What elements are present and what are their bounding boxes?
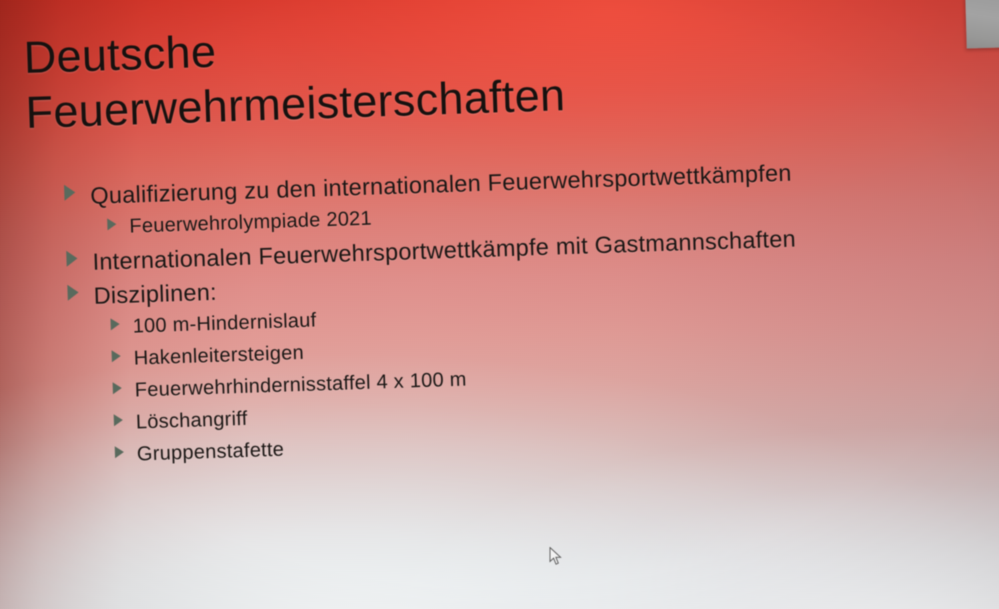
list-item-label: Disziplinen: <box>93 279 217 310</box>
triangle-right-icon <box>112 350 121 362</box>
triangle-right-icon <box>113 382 122 394</box>
list-item-label: Hakenleitersteigen <box>133 342 304 371</box>
slide-content: Deutsche Feuerwehrmeisterschaften Qualif… <box>0 0 999 609</box>
triangle-right-icon <box>67 284 79 300</box>
page-title: Deutsche Feuerwehrmeisterschaften <box>23 6 786 141</box>
triangle-right-icon <box>107 218 116 230</box>
list-item-label: Feuerwehrolympiade 2021 <box>129 208 372 239</box>
list-item-label: Gruppenstafette <box>137 439 285 467</box>
triangle-right-icon <box>66 250 78 266</box>
slide-photo-stage: Deutsche Feuerwehrmeisterschaften Qualif… <box>0 0 999 609</box>
triangle-right-icon <box>64 184 76 200</box>
list-item-label: 100 m-Hindernislauf <box>132 310 316 339</box>
list-item-label: Feuerwehrhindernisstaffel 4 x 100 m <box>134 369 466 403</box>
triangle-right-icon <box>114 414 123 426</box>
bullet-list: Qualifizierung zu den internationalen Fe… <box>64 154 973 478</box>
triangle-right-icon <box>110 318 119 330</box>
triangle-right-icon <box>115 446 124 458</box>
list-item-label: Löschangriff <box>136 408 248 435</box>
